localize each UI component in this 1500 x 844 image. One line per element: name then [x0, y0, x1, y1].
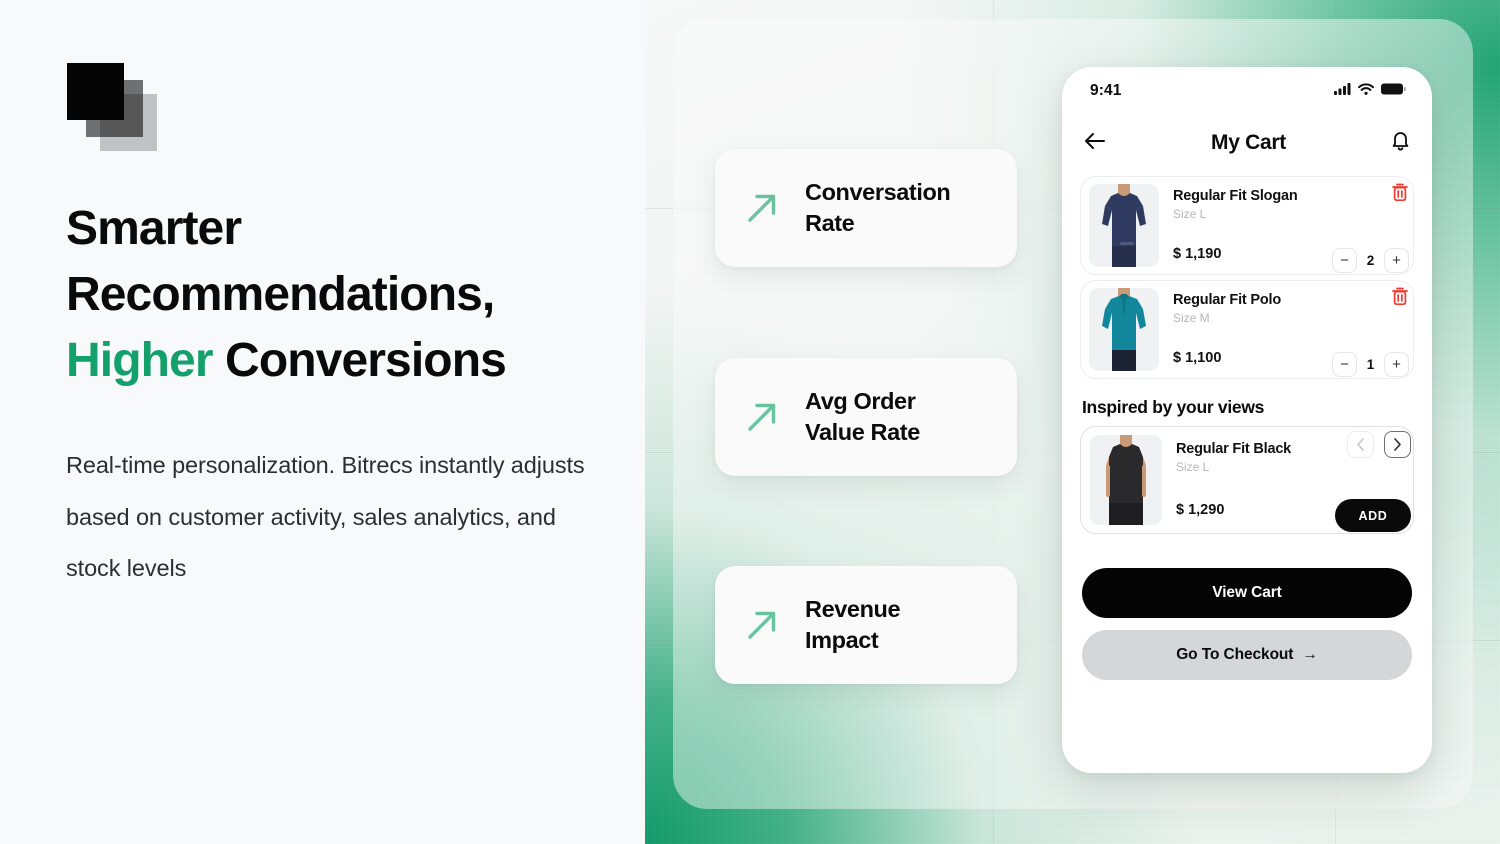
phone-mockup: 9:41 [1062, 67, 1432, 773]
quantity-value: 1 [1366, 357, 1375, 372]
status-time: 9:41 [1090, 82, 1121, 100]
chevron-left-icon[interactable] [1347, 431, 1374, 458]
feature-card-label: Conversation Rate [805, 177, 950, 240]
feature-card-avg-order-value-rate[interactable]: Avg Order Value Rate [715, 358, 1017, 476]
cart-item-row[interactable]: Regular Fit Polo Size M $ 1,100 − 1 + [1080, 280, 1414, 379]
product-price: $ 1,290 [1176, 502, 1224, 518]
wifi-icon [1358, 82, 1374, 100]
back-arrow-icon[interactable] [1084, 132, 1106, 155]
phone-app-header: My Cart [1062, 115, 1432, 171]
arrow-up-right-icon [741, 187, 783, 229]
logo-square-front [67, 63, 124, 120]
right-visual-panel: Conversation Rate Avg Order Value Rate [645, 0, 1500, 844]
quantity-decrease-button[interactable]: − [1332, 248, 1357, 273]
phone-status-bar: 9:41 [1062, 67, 1432, 115]
add-to-cart-button[interactable]: ADD [1335, 499, 1411, 532]
product-thumbnail [1089, 184, 1159, 267]
checkout-label: Go To Checkout [1176, 646, 1293, 664]
notification-bell-icon[interactable] [1391, 130, 1410, 156]
feature-card-revenue-impact[interactable]: Revenue Impact [715, 566, 1017, 684]
arrow-up-right-icon [741, 604, 783, 646]
quantity-increase-button[interactable]: + [1384, 248, 1409, 273]
product-name: Regular Fit Slogan [1173, 188, 1401, 204]
arrow-up-right-icon [741, 396, 783, 438]
headline-line-2: Recommendations, [66, 268, 494, 321]
quantity-value: 2 [1366, 253, 1375, 268]
stacked-squares-logo [67, 63, 157, 151]
cellular-signal-icon [1334, 82, 1351, 100]
arrow-right-icon: → [1302, 646, 1317, 664]
page-headline: Smarter Recommendations, Higher Conversi… [66, 196, 626, 395]
chevron-right-icon[interactable] [1384, 431, 1411, 458]
product-price: $ 1,100 [1173, 350, 1221, 366]
hero-subcopy: Real-time personalization. Bitrecs insta… [66, 440, 586, 595]
headline-accent-word: Higher [66, 334, 213, 387]
status-icon-group [1334, 82, 1406, 100]
feature-card-label: Revenue Impact [805, 594, 900, 657]
recommendation-card[interactable]: Regular Fit Black Size L $ 1,290 ADD [1080, 426, 1414, 534]
headline-line-1: Smarter [66, 202, 241, 255]
quantity-increase-button[interactable]: + [1384, 352, 1409, 377]
cart-item-row[interactable]: Regular Fit Slogan Size L $ 1,190 − 2 + [1080, 176, 1414, 275]
quantity-stepper[interactable]: − 2 + [1332, 248, 1409, 273]
quantity-stepper[interactable]: − 1 + [1332, 352, 1409, 377]
recommendation-carousel-controls[interactable] [1347, 431, 1411, 458]
view-cart-button[interactable]: View Cart [1082, 568, 1412, 618]
product-size: Size L [1173, 207, 1401, 221]
feature-card-label: Avg Order Value Rate [805, 386, 920, 449]
feature-card-conversation-rate[interactable]: Conversation Rate [715, 149, 1017, 267]
product-thumbnail [1089, 288, 1159, 371]
trash-icon[interactable] [1391, 182, 1409, 202]
trash-icon[interactable] [1391, 286, 1409, 306]
battery-icon [1381, 82, 1406, 100]
product-thumbnail [1090, 435, 1162, 525]
product-size: Size L [1176, 460, 1401, 474]
quantity-decrease-button[interactable]: − [1332, 352, 1357, 377]
product-price: $ 1,190 [1173, 246, 1221, 262]
left-content-panel: Smarter Recommendations, Higher Conversi… [0, 0, 645, 844]
page-title: My Cart [1211, 131, 1286, 155]
recommendations-section-title: Inspired by your views [1082, 397, 1432, 418]
product-size: Size M [1173, 311, 1401, 325]
headline-line-3-rest: Conversions [213, 334, 506, 387]
go-to-checkout-button[interactable]: Go To Checkout → [1082, 630, 1412, 680]
product-name: Regular Fit Polo [1173, 292, 1401, 308]
